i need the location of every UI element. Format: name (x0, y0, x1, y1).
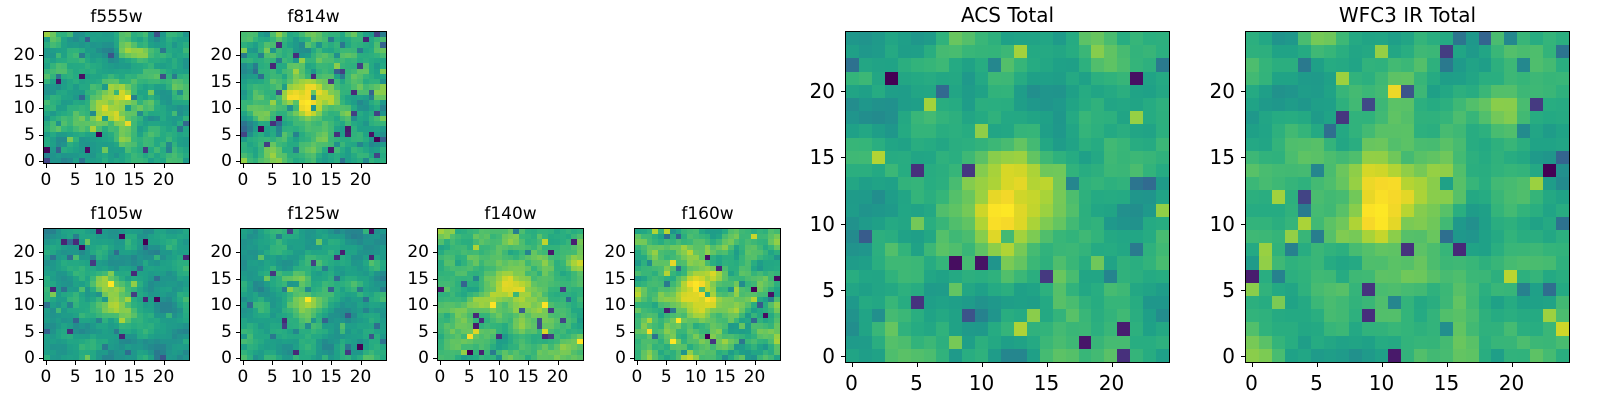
y-axis-tick (236, 332, 240, 333)
y-axis-tick (841, 290, 845, 291)
y-axis-tick-label: 10 (210, 98, 232, 118)
y-axis-tick-label: 20 (13, 45, 35, 65)
panel-f125w: f125w 0510152005101520 (240, 228, 387, 361)
y-axis-tick (433, 358, 437, 359)
y-axis-tick (433, 252, 437, 253)
y-axis-tick (433, 332, 437, 333)
x-axis-tick-label: 5 (1310, 371, 1323, 395)
y-axis-tick (39, 55, 43, 56)
y-axis-tick-label: 15 (810, 145, 835, 169)
x-axis-tick (499, 361, 500, 365)
x-axis-tick-label: 20 (350, 367, 372, 387)
x-axis-tick-label: 0 (238, 367, 249, 387)
heatmap-grid (846, 32, 1169, 362)
x-axis-tick (331, 361, 332, 365)
y-axis-tick (630, 252, 634, 253)
x-axis-tick (134, 164, 135, 168)
x-axis-tick (1447, 363, 1448, 367)
y-axis-tick (630, 305, 634, 306)
x-axis-tick-label: 20 (1499, 371, 1524, 395)
y-axis-tick (236, 55, 240, 56)
y-axis-tick (39, 82, 43, 83)
x-axis-tick-label: 5 (267, 170, 278, 190)
x-axis-tick-label: 20 (350, 170, 372, 190)
heatmap-axes[interactable] (240, 228, 387, 361)
x-axis-tick (440, 361, 441, 365)
y-axis-tick-label: 0 (24, 348, 35, 368)
x-axis-tick (696, 361, 697, 365)
y-axis-tick (39, 161, 43, 162)
y-axis-tick (433, 279, 437, 280)
y-axis-tick (236, 358, 240, 359)
x-axis-tick-label: 10 (94, 367, 116, 387)
x-axis-tick (331, 164, 332, 168)
panel-f140w: f140w 0510152005101520 (437, 228, 584, 361)
x-axis-tick (1382, 363, 1383, 367)
x-axis-tick-label: 15 (123, 367, 145, 387)
y-axis-tick-label: 5 (615, 322, 626, 342)
x-axis-tick-label: 0 (845, 371, 858, 395)
x-axis-tick (105, 164, 106, 168)
panel-f160w: f160w 0510152005101520 (634, 228, 781, 361)
x-axis-tick-label: 5 (70, 170, 81, 190)
y-axis-tick (630, 358, 634, 359)
x-axis-tick-label: 10 (94, 170, 116, 190)
x-axis-tick (725, 361, 726, 365)
y-axis-tick-label: 5 (822, 278, 835, 302)
y-axis-tick-label: 15 (13, 72, 35, 92)
panel-title: f140w (437, 204, 584, 224)
y-axis-tick (1241, 157, 1245, 158)
y-axis-tick-label: 5 (24, 322, 35, 342)
heatmap-axes[interactable] (1245, 31, 1570, 363)
x-axis-tick (666, 361, 667, 365)
panel-title: f814w (240, 7, 387, 27)
y-axis-tick (236, 108, 240, 109)
x-axis-tick-label: 10 (1369, 371, 1394, 395)
y-axis-tick-label: 20 (810, 79, 835, 103)
x-axis-tick-label: 0 (1245, 371, 1258, 395)
y-axis-tick-label: 20 (1210, 79, 1235, 103)
x-axis-tick (558, 361, 559, 365)
x-axis-tick (164, 361, 165, 365)
x-axis-tick-label: 15 (320, 367, 342, 387)
y-axis-tick-label: 15 (210, 269, 232, 289)
x-axis-tick-label: 10 (488, 367, 510, 387)
panel-f814w: f814w 0510152005101520 (240, 31, 387, 164)
x-axis-tick-label: 5 (267, 367, 278, 387)
x-axis-tick (75, 361, 76, 365)
y-axis-tick (236, 305, 240, 306)
heatmap-axes[interactable] (634, 228, 781, 361)
y-axis-tick (1241, 290, 1245, 291)
y-axis-tick-label: 20 (407, 242, 429, 262)
heatmap-axes[interactable] (437, 228, 584, 361)
y-axis-tick-label: 20 (604, 242, 626, 262)
x-axis-tick (361, 361, 362, 365)
heatmap-axes[interactable] (240, 31, 387, 164)
heatmap-axes[interactable] (43, 31, 190, 164)
y-axis-tick-label: 5 (1222, 278, 1235, 302)
y-axis-tick-label: 15 (210, 72, 232, 92)
figure-canvas: f555w 0510152005101520 f814w 05101520051… (0, 0, 1600, 400)
heatmap-axes[interactable] (43, 228, 190, 361)
y-axis-tick-label: 20 (210, 45, 232, 65)
x-axis-tick (272, 164, 273, 168)
y-axis-tick (236, 252, 240, 253)
heatmap-grid (241, 229, 386, 360)
y-axis-tick-label: 0 (1222, 344, 1235, 368)
y-axis-tick-label: 20 (210, 242, 232, 262)
x-axis-tick (1047, 363, 1048, 367)
x-axis-tick (1112, 363, 1113, 367)
x-axis-tick-label: 10 (969, 371, 994, 395)
x-axis-tick-label: 15 (1434, 371, 1459, 395)
y-axis-tick (39, 358, 43, 359)
y-axis-tick-label: 15 (604, 269, 626, 289)
y-axis-tick-label: 10 (407, 295, 429, 315)
x-axis-tick-label: 20 (547, 367, 569, 387)
y-axis-tick-label: 5 (221, 125, 232, 145)
y-axis-tick-label: 0 (24, 151, 35, 171)
x-axis-tick (46, 164, 47, 168)
x-axis-tick (105, 361, 106, 365)
x-axis-tick (272, 361, 273, 365)
x-axis-tick-label: 20 (1099, 371, 1124, 395)
y-axis-tick (39, 135, 43, 136)
x-axis-tick (1252, 363, 1253, 367)
x-axis-tick-label: 0 (41, 367, 52, 387)
x-axis-tick (528, 361, 529, 365)
y-axis-tick (236, 161, 240, 162)
x-axis-tick (1512, 363, 1513, 367)
panel-title: f160w (634, 204, 781, 224)
y-axis-tick-label: 15 (13, 269, 35, 289)
x-axis-tick-label: 20 (153, 367, 175, 387)
x-axis-tick-label: 5 (70, 367, 81, 387)
heatmap-grid (635, 229, 780, 360)
y-axis-tick-label: 15 (1210, 145, 1235, 169)
y-axis-tick (1241, 356, 1245, 357)
y-axis-tick-label: 5 (418, 322, 429, 342)
panel-wfc3-ir-total: WFC3 IR Total 0510152005101520 (1245, 31, 1570, 363)
y-axis-tick (39, 305, 43, 306)
y-axis-tick (39, 279, 43, 280)
x-axis-tick-label: 0 (435, 367, 446, 387)
y-axis-tick-label: 10 (1210, 212, 1235, 236)
panel-acs-total: ACS Total 0510152005101520 (845, 31, 1170, 363)
y-axis-tick-label: 10 (210, 295, 232, 315)
heatmap-grid (241, 32, 386, 163)
y-axis-tick-label: 0 (221, 348, 232, 368)
panel-title: f125w (240, 204, 387, 224)
x-axis-tick-label: 0 (41, 170, 52, 190)
panel-f555w: f555w 0510152005101520 (43, 31, 190, 164)
y-axis-tick-label: 10 (13, 98, 35, 118)
x-axis-tick-label: 15 (123, 170, 145, 190)
y-axis-tick (841, 224, 845, 225)
heatmap-grid (44, 32, 189, 163)
y-axis-tick-label: 5 (221, 322, 232, 342)
x-axis-tick-label: 10 (291, 170, 313, 190)
x-axis-tick (361, 164, 362, 168)
x-axis-tick-label: 20 (153, 170, 175, 190)
y-axis-tick-label: 5 (24, 125, 35, 145)
y-axis-tick (630, 279, 634, 280)
x-axis-tick (917, 363, 918, 367)
y-axis-tick (236, 82, 240, 83)
y-axis-tick (236, 279, 240, 280)
x-axis-tick (164, 164, 165, 168)
x-axis-tick (637, 361, 638, 365)
x-axis-tick-label: 0 (632, 367, 643, 387)
y-axis-tick (39, 332, 43, 333)
x-axis-tick (469, 361, 470, 365)
y-axis-tick-label: 10 (13, 295, 35, 315)
heatmap-axes[interactable] (845, 31, 1170, 363)
panel-title: ACS Total (845, 3, 1170, 27)
heatmap-grid (44, 229, 189, 360)
y-axis-tick (39, 108, 43, 109)
x-axis-tick-label: 10 (291, 367, 313, 387)
x-axis-tick-label: 20 (744, 367, 766, 387)
x-axis-tick-label: 5 (661, 367, 672, 387)
x-axis-tick (243, 361, 244, 365)
x-axis-tick-label: 5 (464, 367, 475, 387)
panel-title: f105w (43, 204, 190, 224)
y-axis-tick (841, 157, 845, 158)
x-axis-tick-label: 15 (517, 367, 539, 387)
y-axis-tick-label: 10 (604, 295, 626, 315)
x-axis-tick (755, 361, 756, 365)
y-axis-tick-label: 10 (810, 212, 835, 236)
panel-title: f555w (43, 7, 190, 27)
x-axis-tick-label: 10 (685, 367, 707, 387)
x-axis-tick (982, 363, 983, 367)
x-axis-tick (46, 361, 47, 365)
y-axis-tick-label: 20 (13, 242, 35, 262)
y-axis-tick (630, 332, 634, 333)
heatmap-grid (1246, 32, 1569, 362)
x-axis-tick (75, 164, 76, 168)
x-axis-tick-label: 0 (238, 170, 249, 190)
y-axis-tick-label: 0 (615, 348, 626, 368)
panel-title: WFC3 IR Total (1245, 3, 1570, 27)
x-axis-tick-label: 15 (320, 170, 342, 190)
y-axis-tick-label: 15 (407, 269, 429, 289)
x-axis-tick (243, 164, 244, 168)
x-axis-tick (852, 363, 853, 367)
panel-f105w: f105w 0510152005101520 (43, 228, 190, 361)
x-axis-tick-label: 15 (1034, 371, 1059, 395)
y-axis-tick-label: 0 (822, 344, 835, 368)
x-axis-tick (302, 164, 303, 168)
y-axis-tick (433, 305, 437, 306)
heatmap-grid (438, 229, 583, 360)
y-axis-tick-label: 0 (418, 348, 429, 368)
x-axis-tick-label: 15 (714, 367, 736, 387)
y-axis-tick (841, 91, 845, 92)
x-axis-tick-label: 5 (910, 371, 923, 395)
y-axis-tick (39, 252, 43, 253)
y-axis-tick (236, 135, 240, 136)
x-axis-tick (134, 361, 135, 365)
y-axis-tick-label: 0 (221, 151, 232, 171)
y-axis-tick (1241, 224, 1245, 225)
y-axis-tick (841, 356, 845, 357)
x-axis-tick (302, 361, 303, 365)
x-axis-tick (1317, 363, 1318, 367)
y-axis-tick (1241, 91, 1245, 92)
